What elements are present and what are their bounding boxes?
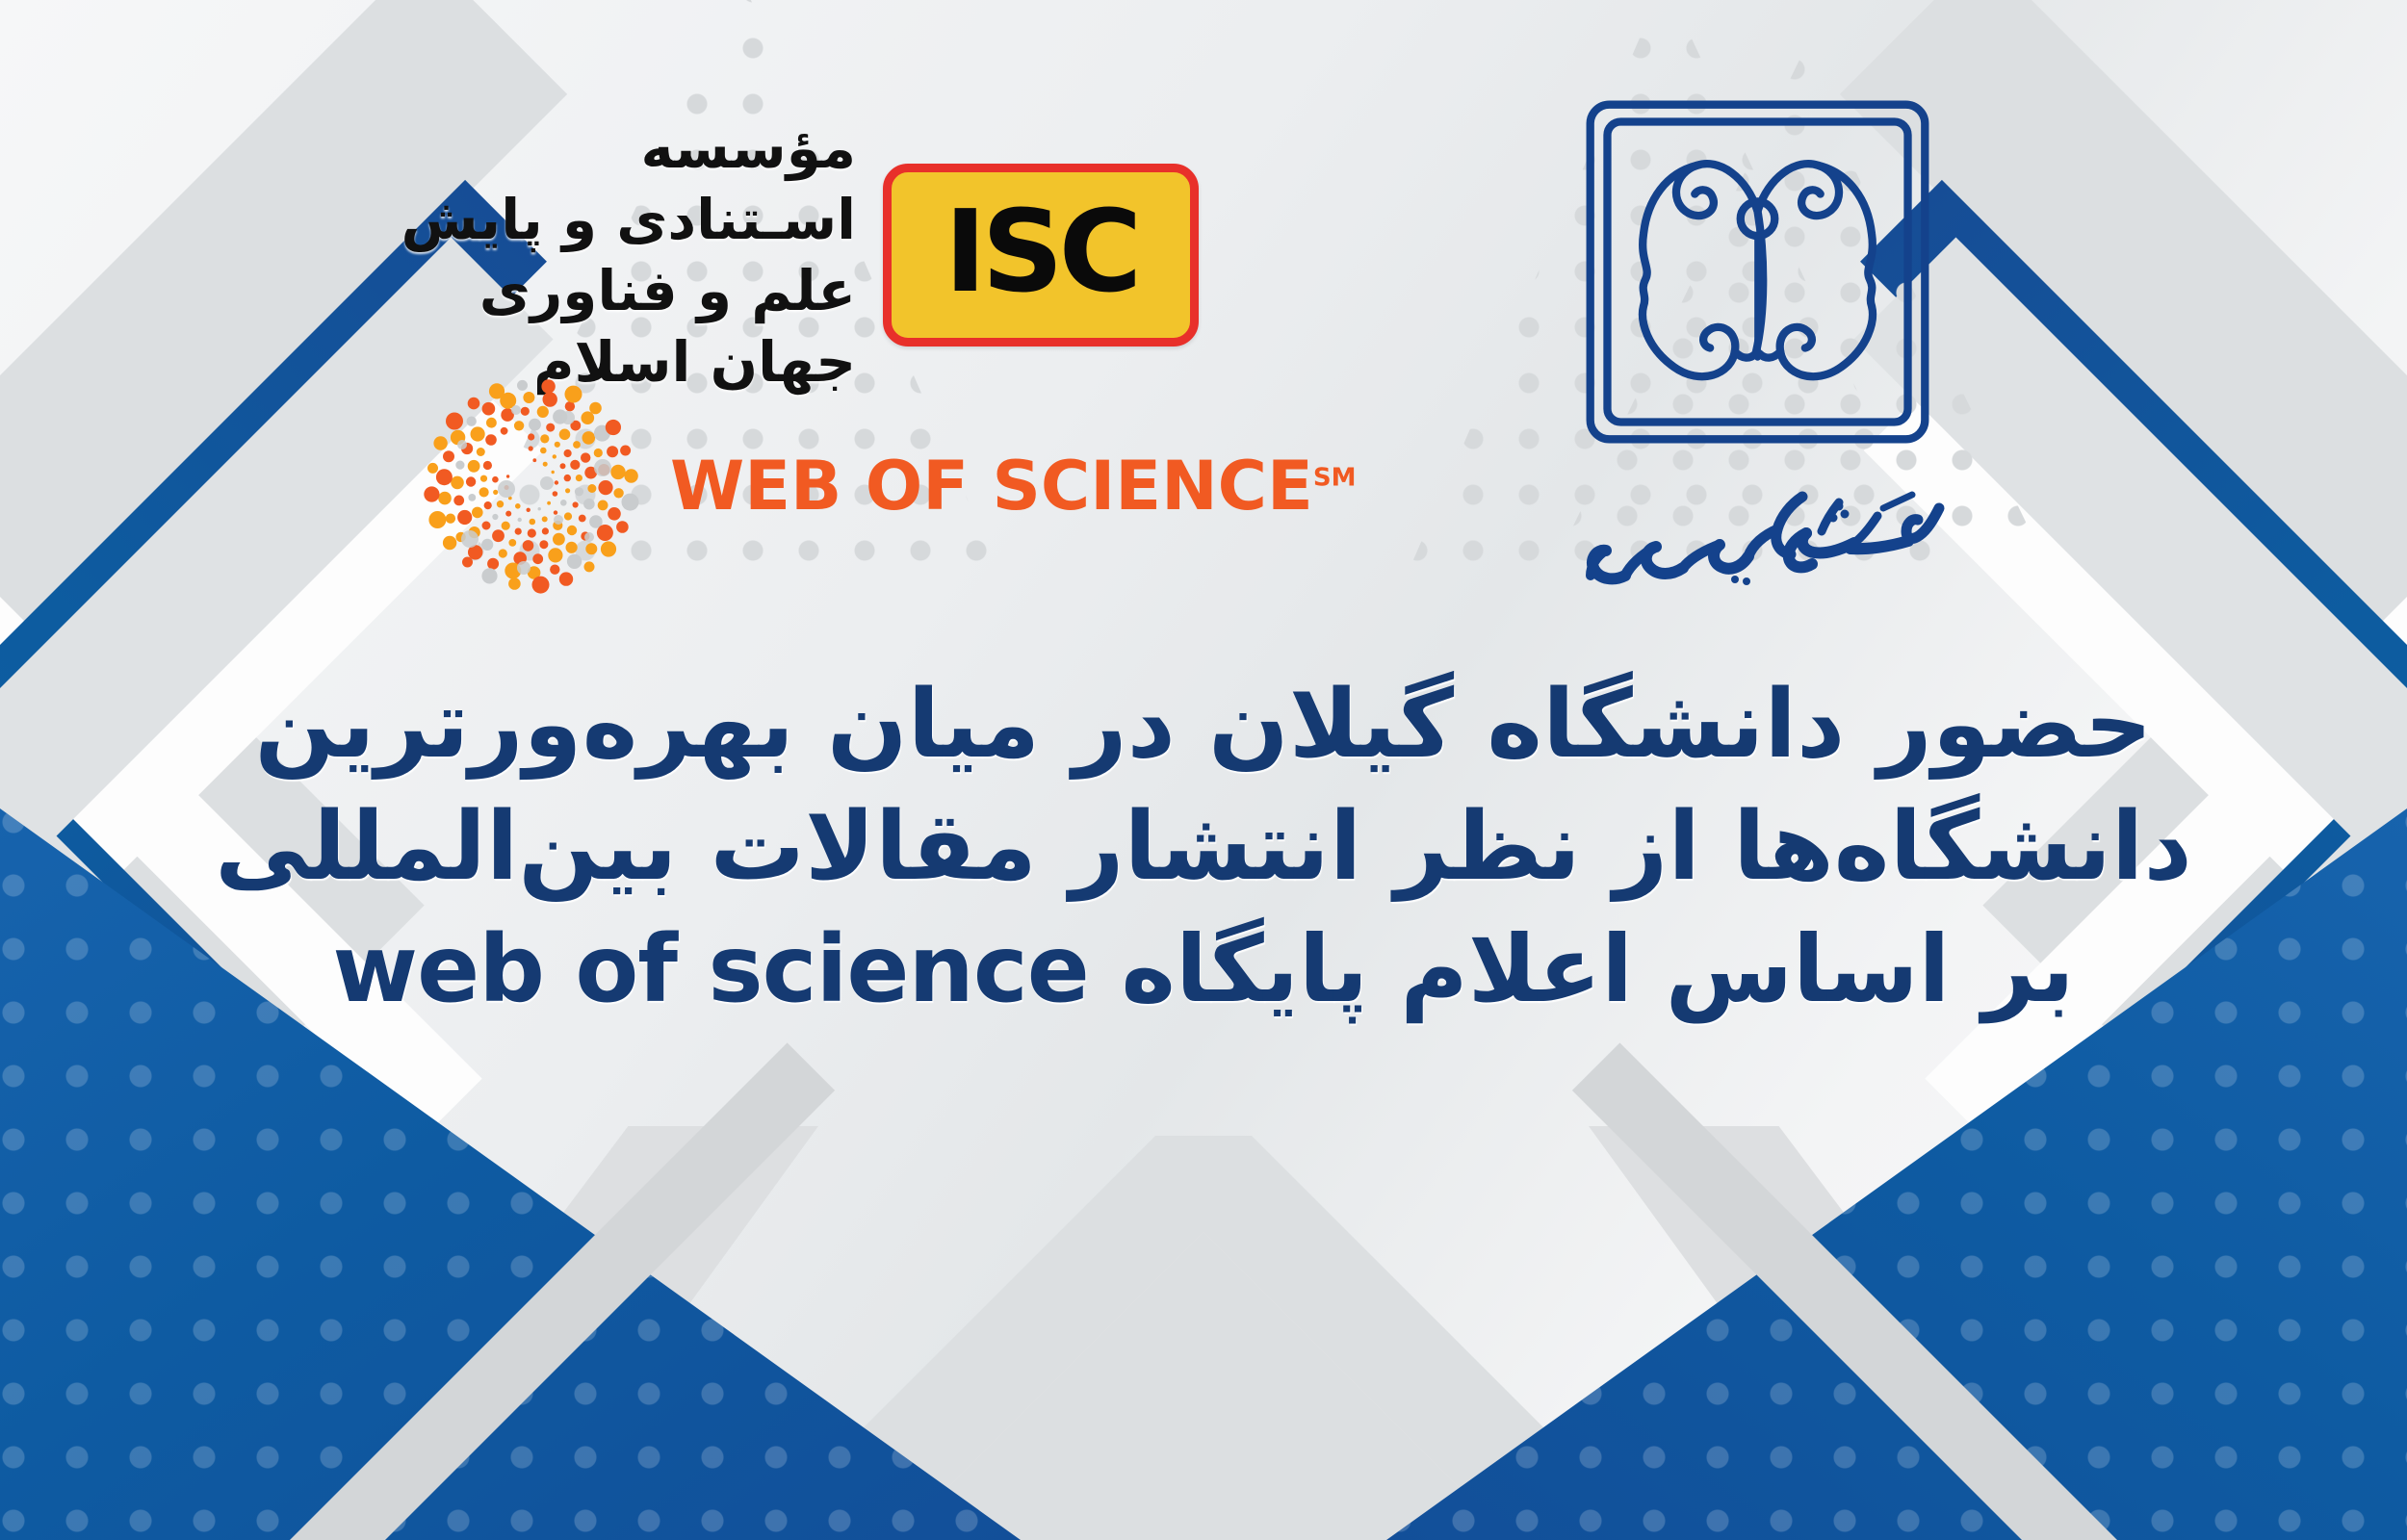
- gilan-university-name: [1550, 458, 1964, 603]
- gilan-emblem-icon: [1567, 82, 1948, 462]
- poster-canvas: مؤسسه اسـتنادی و پایش علم و فناوری جهان …: [0, 0, 2407, 1540]
- headline-line-2: دانشگاه‌ها از نظر انتشار مقالات بین‌المل…: [0, 786, 2407, 909]
- isc-org-line-1: مؤسسه اسـتنادی و پایش: [400, 113, 856, 255]
- isc-logo-block: مؤسسه اسـتنادی و پایش علم و فناوری جهان …: [400, 144, 1199, 366]
- headline-line-3-ltr: web of science: [332, 915, 1089, 1023]
- headline-line-1: حضور دانشگاه گیلان در میان بهره‌ورترین: [0, 664, 2407, 786]
- wos-wordmark: WEB OF SCIENCESM: [670, 447, 1356, 526]
- isc-mark-label: ISC: [945, 194, 1138, 308]
- gilan-university-logo-block: [1531, 82, 1983, 621]
- headline-line-3-rtl: بر اساس اعلام پایگاه: [1121, 915, 2074, 1023]
- headline-line-3: بر اساس اعلام پایگاه web of science: [0, 910, 2407, 1030]
- wos-service-mark: SM: [1313, 464, 1357, 493]
- headline: حضور دانشگاه گیلان در میان بهره‌ورترین د…: [0, 664, 2407, 1030]
- poster-content: مؤسسه اسـتنادی و پایش علم و فناوری جهان …: [0, 0, 2407, 1540]
- wos-wordmark-label: WEB OF SCIENCE: [670, 447, 1313, 526]
- web-of-science-logo-block: WEB OF SCIENCESM: [424, 375, 1203, 597]
- isc-mark-icon: ISC: [883, 164, 1199, 346]
- wos-dot-spiral-icon: [424, 375, 645, 597]
- isc-org-name: مؤسسه اسـتنادی و پایش علم و فناوری جهان …: [400, 113, 856, 398]
